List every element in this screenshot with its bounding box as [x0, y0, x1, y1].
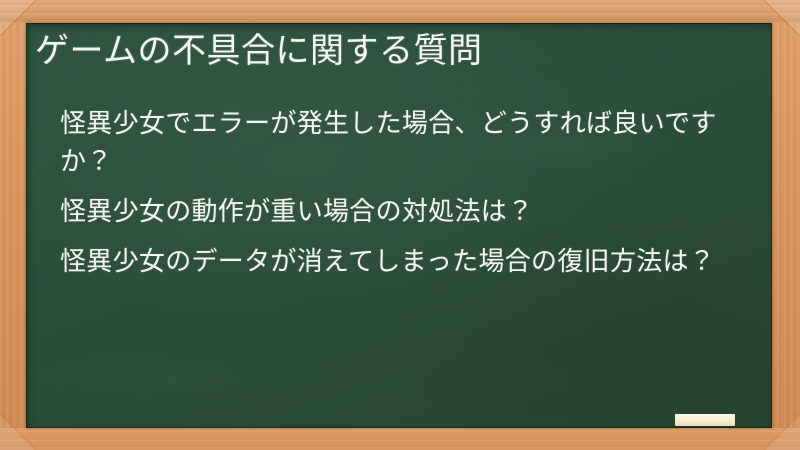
- slide-title: ゲームの不具合に関する質問: [35, 30, 755, 74]
- question-list: 怪異少女でエラーが発生した場合、どうすれば良いですか？ 怪異少女の動作が重い場合…: [60, 105, 752, 281]
- question-item: 怪異少女の動作が重い場合の対処法は？: [60, 193, 752, 231]
- frame-bottom-ledge: [0, 428, 800, 450]
- chalk-stick: [675, 414, 735, 426]
- question-item: 怪異少女のデータが消えてしまった場合の復旧方法は？: [60, 243, 752, 281]
- chalkboard-slide: ゲームの不具合に関する質問 怪異少女でエラーが発生した場合、どうすれば良いですか…: [0, 0, 800, 450]
- question-item: 怪異少女でエラーが発生した場合、どうすれば良いですか？: [60, 105, 752, 181]
- chalkboard-surface: ゲームの不具合に関する質問 怪異少女でエラーが発生した場合、どうすれば良いですか…: [26, 23, 772, 428]
- frame-top-rail: [0, 0, 800, 23]
